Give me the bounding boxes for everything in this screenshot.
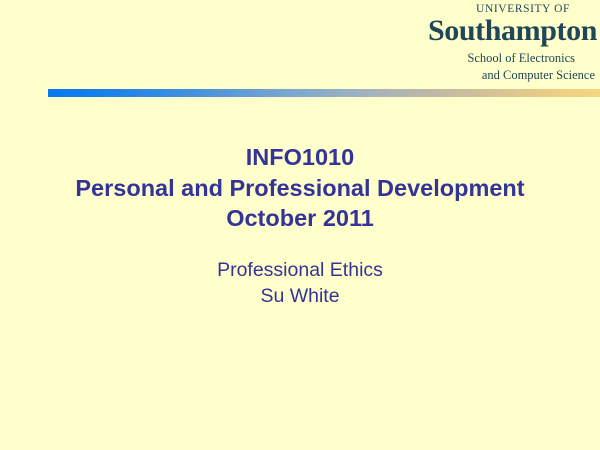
presentation-slide: UNIVERSITY OF Southampton School of Elec… bbox=[0, 0, 600, 450]
university-logo: UNIVERSITY OF Southampton School of Elec… bbox=[417, 4, 597, 83]
subtitle-line-topic: Professional Ethics bbox=[0, 258, 600, 284]
logo-school-line-2: and Computer Science bbox=[417, 67, 597, 84]
logo-southampton-wordmark: Southampton bbox=[417, 17, 597, 46]
subtitle-line-presenter: Su White bbox=[0, 284, 600, 310]
slide-title: INFO1010 Personal and Professional Devel… bbox=[0, 142, 600, 234]
title-line-course-code: INFO1010 bbox=[0, 142, 600, 173]
title-line-date: October 2011 bbox=[0, 203, 600, 234]
logo-school-line-1: School of Electronics bbox=[417, 50, 597, 67]
gradient-divider-bar bbox=[48, 89, 600, 97]
title-line-course-name: Personal and Professional Development bbox=[0, 173, 600, 204]
slide-subtitle: Professional Ethics Su White bbox=[0, 258, 600, 310]
